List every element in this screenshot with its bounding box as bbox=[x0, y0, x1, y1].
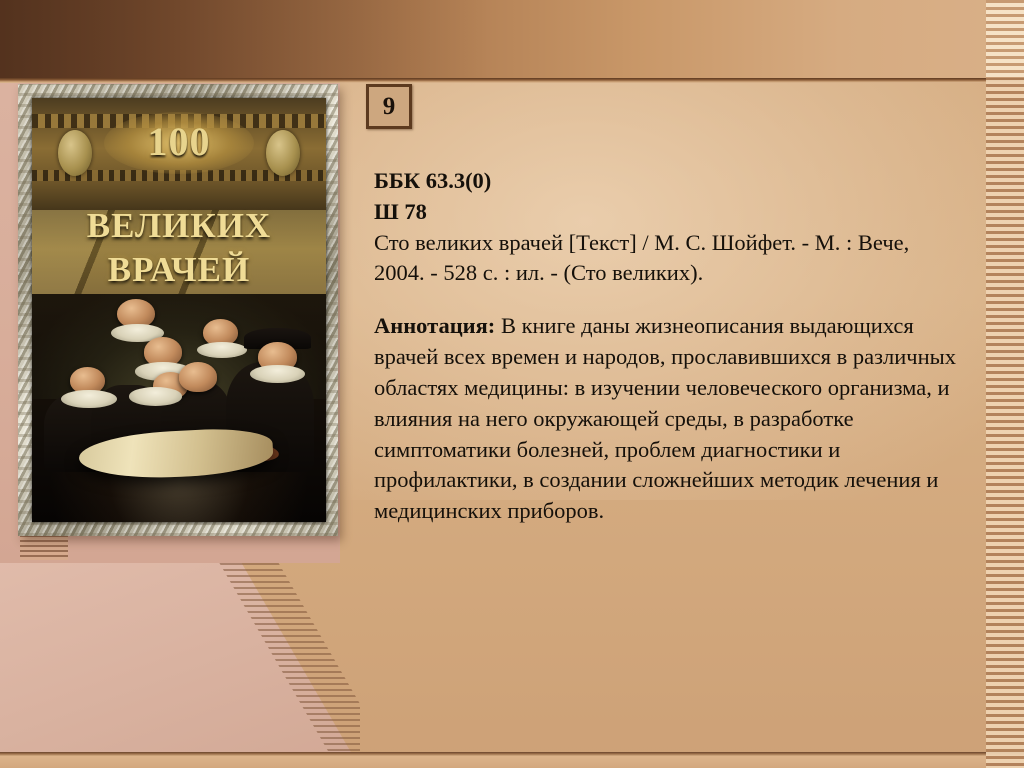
top-band-shadow bbox=[0, 0, 1024, 78]
cover-painting-anatomy-lesson bbox=[32, 294, 326, 522]
bibliographic-text-block: ББК 63.3(0) Ш 78 Сто великих врачей [Тек… bbox=[374, 166, 968, 527]
figure-collar-tulp bbox=[250, 365, 306, 383]
cover-title-line-2: ВРАЧЕЙ bbox=[32, 250, 326, 290]
bbk-classification: ББК 63.3(0) bbox=[374, 166, 968, 197]
top-divider-rule bbox=[0, 78, 1024, 83]
annotation-text: В книге даны жизнеописания выдающихся вр… bbox=[374, 313, 956, 523]
figure-collar-front-left bbox=[61, 390, 117, 408]
book-cover-frame: 100 ВЕЛИКИХ ВРАЧЕЙ bbox=[18, 84, 338, 536]
bottom-divider-rule bbox=[0, 752, 1024, 756]
slide-number-badge: 9 bbox=[366, 84, 412, 129]
bottom-fill-band bbox=[0, 756, 1024, 768]
shelf-mark: Ш 78 bbox=[374, 197, 968, 228]
citation-text: Сто великих врачей [Текст] / М. С. Шойфе… bbox=[374, 228, 968, 290]
cover-number-100: 100 bbox=[148, 118, 211, 165]
right-edge-stripe-texture-top bbox=[986, 0, 1024, 78]
slide-canvas: 100 ВЕЛИКИХ ВРАЧЕЙ bbox=[0, 0, 1024, 768]
cover-medallion-right bbox=[266, 130, 300, 176]
annotation-label: Аннотация: bbox=[374, 313, 495, 338]
citation-line-1: Сто великих врачей [Текст] / М. С. Шойфе… bbox=[374, 228, 968, 259]
figure-collar-back-right bbox=[197, 342, 247, 358]
figure-collar-front-mid bbox=[129, 387, 182, 405]
cover-medallion-left bbox=[58, 130, 92, 176]
right-edge-stripe-texture bbox=[986, 0, 1024, 768]
book-cover-image: 100 ВЕЛИКИХ ВРАЧЕЙ bbox=[32, 98, 326, 522]
figure-head-front-right bbox=[179, 362, 217, 392]
citation-line-2: 2004. - 528 с. : ил. - (Сто великих). bbox=[374, 258, 968, 289]
cover-title-line-1: ВЕЛИКИХ bbox=[32, 206, 326, 246]
annotation-block: Аннотация: В книге даны жизнеописания вы… bbox=[374, 311, 968, 527]
